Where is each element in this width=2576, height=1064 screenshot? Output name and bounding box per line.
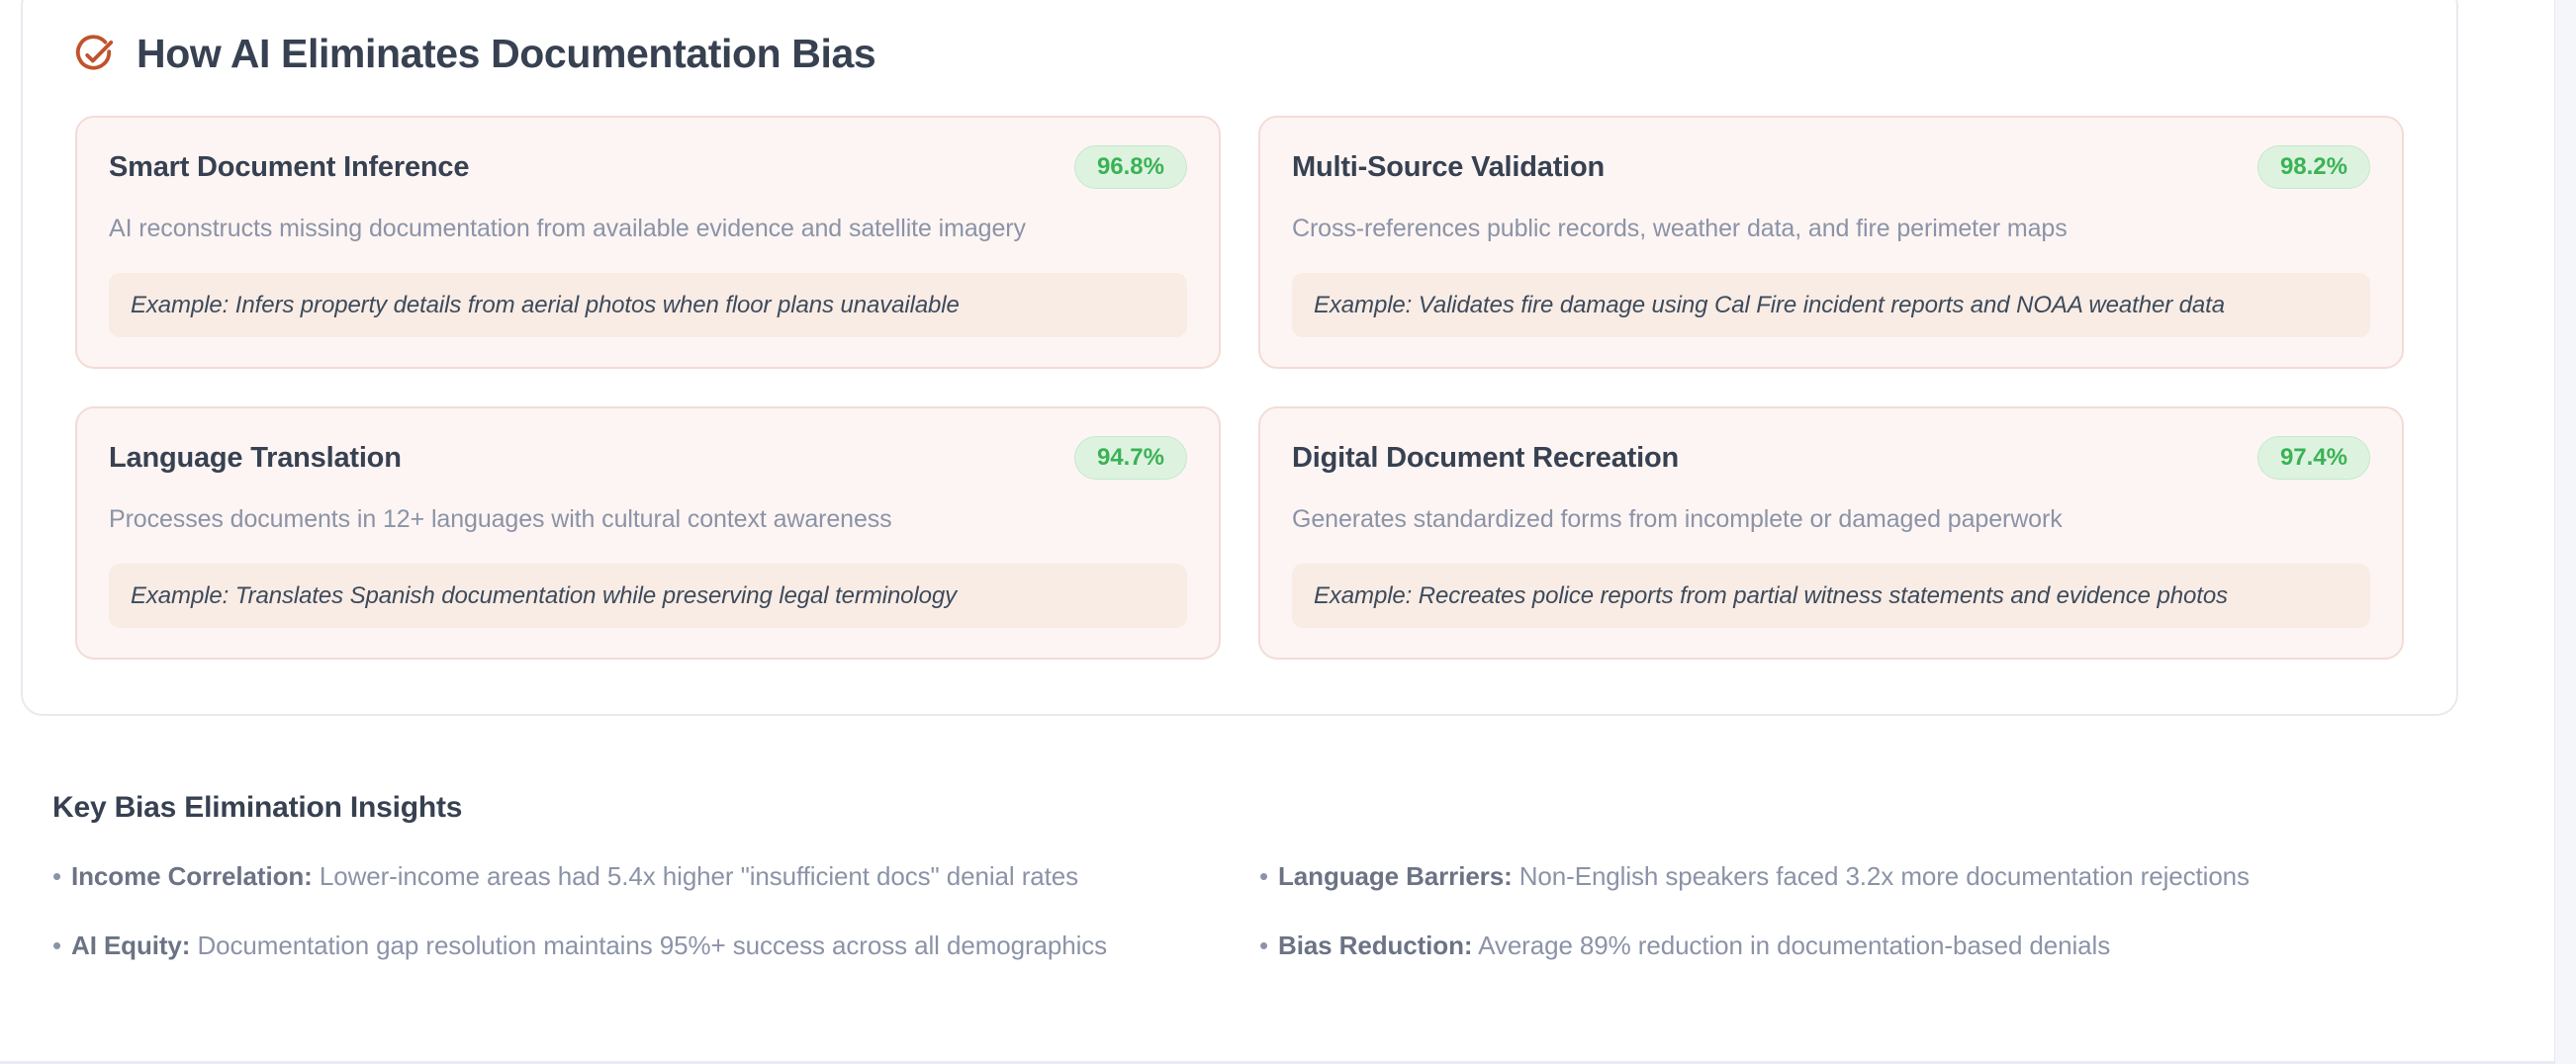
feature-card-header: Multi-Source Validation 98.2% <box>1292 145 2370 189</box>
feature-card-header: Digital Document Recreation 97.4% <box>1292 436 2370 480</box>
feature-example: Example: Validates fire damage using Cal… <box>1292 273 2370 337</box>
feature-description: Processes documents in 12+ languages wit… <box>109 503 1187 537</box>
accuracy-badge: 96.8% <box>1074 145 1187 189</box>
insight-text: Average 89% reduction in documentation-b… <box>1478 931 2110 960</box>
feature-card-header: Smart Document Inference 96.8% <box>109 145 1187 189</box>
accuracy-badge: 97.4% <box>2257 436 2370 480</box>
accuracy-badge: 94.7% <box>1074 436 1187 480</box>
key-insights-section: Key Bias Elimination Insights • Income C… <box>52 791 2437 961</box>
insight-item: • AI Equity: Documentation gap resolutio… <box>52 930 1230 962</box>
insights-title: Key Bias Elimination Insights <box>52 791 2437 825</box>
insight-label: Language Barriers: <box>1278 861 1513 891</box>
circle-check-icon <box>73 34 114 74</box>
page-title: How AI Eliminates Documentation Bias <box>137 34 875 74</box>
insight-text: Non-English speakers faced 3.2x more doc… <box>1519 861 2250 891</box>
feature-title: Digital Document Recreation <box>1292 441 1679 476</box>
page-root: How AI Eliminates Documentation Bias Sma… <box>0 0 2576 1064</box>
feature-card[interactable]: Digital Document Recreation 97.4% Genera… <box>1258 406 2404 660</box>
bullet-icon: • <box>1259 932 1268 958</box>
insights-grid: • Income Correlation: Lower-income areas… <box>52 860 2437 961</box>
feature-example: Example: Recreates police reports from p… <box>1292 564 2370 628</box>
accuracy-badge: 98.2% <box>2257 145 2370 189</box>
feature-card[interactable]: Smart Document Inference 96.8% AI recons… <box>75 116 1221 369</box>
documentation-bias-panel: How AI Eliminates Documentation Bias Sma… <box>21 0 2458 716</box>
insight-text: Lower-income areas had 5.4x higher "insu… <box>320 861 1078 891</box>
insight-label: Income Correlation: <box>71 861 313 891</box>
feature-card-header: Language Translation 94.7% <box>109 436 1187 480</box>
feature-example: Example: Infers property details from ae… <box>109 273 1187 337</box>
insight-item: • Language Barriers: Non-English speaker… <box>1259 860 2437 893</box>
feature-description: Generates standardized forms from incomp… <box>1292 503 2370 537</box>
bullet-icon: • <box>52 863 61 889</box>
feature-title: Multi-Source Validation <box>1292 150 1605 185</box>
feature-description: Cross-references public records, weather… <box>1292 213 2370 246</box>
insight-label: AI Equity: <box>71 931 190 960</box>
feature-card[interactable]: Language Translation 94.7% Processes doc… <box>75 406 1221 660</box>
feature-title: Smart Document Inference <box>109 150 469 185</box>
insight-item: • Income Correlation: Lower-income areas… <box>52 860 1230 893</box>
insight-label: Bias Reduction: <box>1278 931 1472 960</box>
feature-example: Example: Translates Spanish documentatio… <box>109 564 1187 628</box>
insight-text: Documentation gap resolution maintains 9… <box>197 931 1107 960</box>
scrollbar-track[interactable] <box>2554 0 2576 1064</box>
panel-header: How AI Eliminates Documentation Bias <box>23 0 2456 74</box>
bullet-icon: • <box>1259 863 1268 889</box>
insight-item: • Bias Reduction: Average 89% reduction … <box>1259 930 2437 962</box>
feature-card-grid: Smart Document Inference 96.8% AI recons… <box>23 74 2456 660</box>
feature-card[interactable]: Multi-Source Validation 98.2% Cross-refe… <box>1258 116 2404 369</box>
feature-title: Language Translation <box>109 441 402 476</box>
feature-description: AI reconstructs missing documentation fr… <box>109 213 1187 246</box>
bullet-icon: • <box>52 932 61 958</box>
